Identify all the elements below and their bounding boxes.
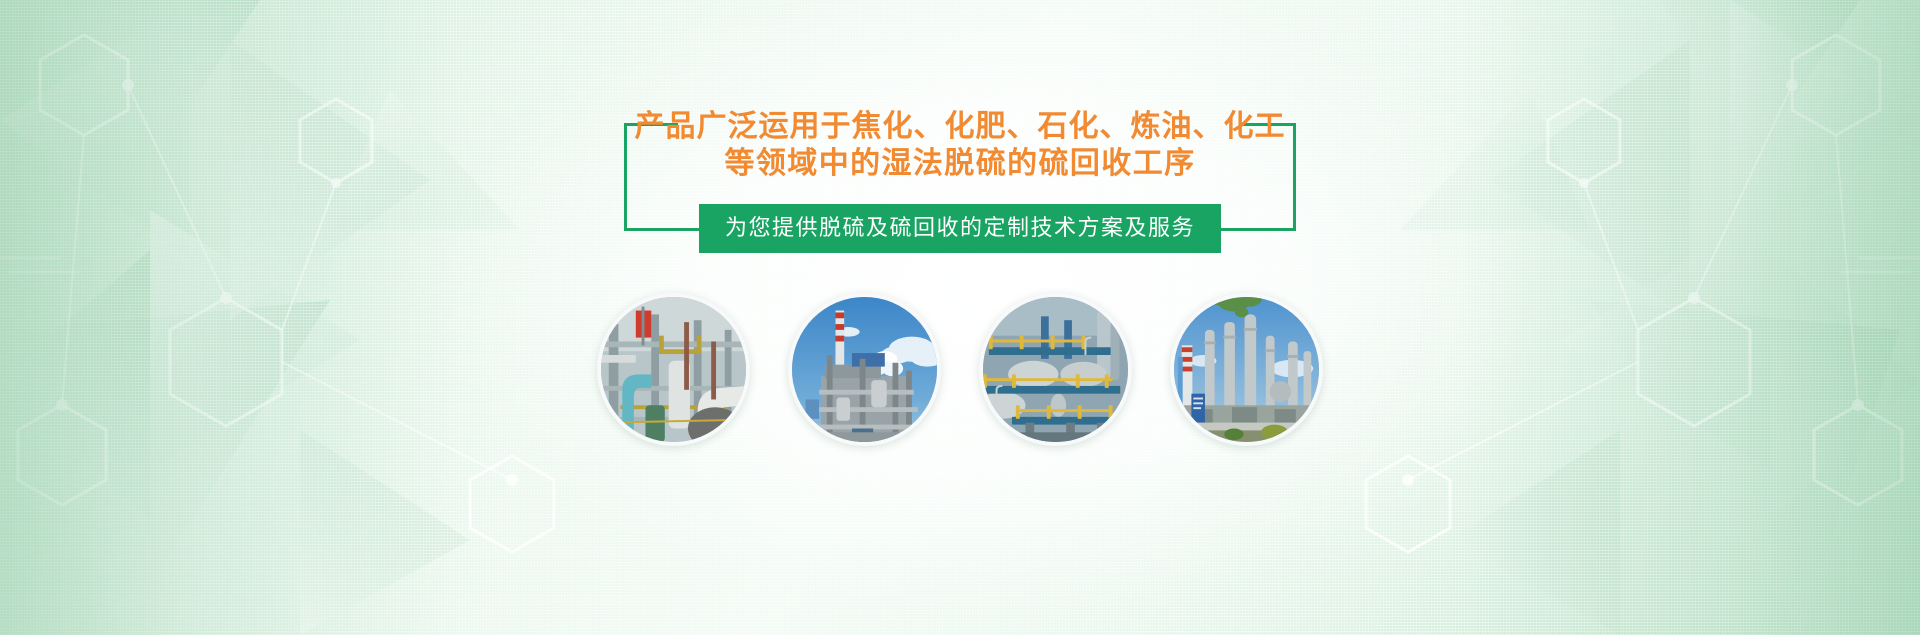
headline-block: 产品广泛运用于焦化、化肥、石化、炼油、化工 等领域中的湿法脱硫的硫回收工序 [630,108,1290,182]
hero-banner: 产品广泛运用于焦化、化肥、石化、炼油、化工 等领域中的湿法脱硫的硫回收工序 为您… [0,0,1920,635]
bracket-bottom-right-segment [1218,228,1296,231]
headline-line-1: 产品广泛运用于焦化、化肥、石化、炼油、化工 [635,108,1286,145]
photo-image [601,297,746,442]
photo-refinery-chimney [788,293,941,446]
headline-line-2: 等领域中的湿法脱硫的硫回收工序 [725,145,1196,182]
photo-sulfur-recovery-unit [979,293,1132,446]
photo-image [983,297,1128,442]
photo-image [1174,297,1319,442]
banner-copy: 产品广泛运用于焦化、化肥、石化、炼油、化工 等领域中的湿法脱硫的硫回收工序 为您… [0,108,1920,253]
photo-desulfurization-pipes [597,293,750,446]
bracket-right-vertical [1293,123,1296,231]
subheadline-banner: 为您提供脱硫及硫回收的定制技术方案及服务 [699,204,1221,253]
photo-image [792,297,937,442]
bracket-left-vertical [624,123,627,231]
bracket-bottom-left-segment [624,228,702,231]
photo-strip [0,293,1920,446]
photo-petrochemical-towers [1170,293,1323,446]
